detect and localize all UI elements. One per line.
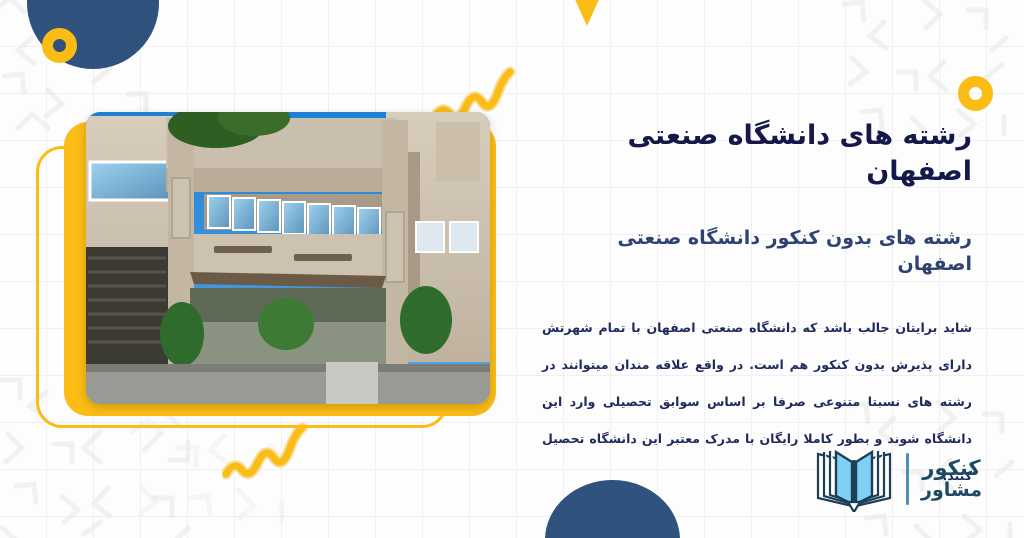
- text-content-block: رشته های دانشگاه صنعتی اصفهان رشته های ب…: [542, 118, 972, 494]
- yellow-ring-right-icon: [958, 76, 993, 111]
- logo-line-moshaver: مشاور: [921, 480, 982, 502]
- yellow-triangle-icon: [569, 0, 605, 26]
- university-building-photo: [86, 112, 490, 404]
- banner-canvas: رشته های دانشگاه صنعتی اصفهان رشته های ب…: [0, 0, 1024, 538]
- brand-logo[interactable]: کنکور مشاور: [814, 446, 982, 512]
- open-book-icon: [814, 446, 894, 512]
- logo-line-konkoor: کنکور: [922, 456, 980, 480]
- logo-wordmark: کنکور مشاور: [921, 456, 982, 502]
- logo-divider: [906, 453, 909, 505]
- page-title: رشته های دانشگاه صنعتی اصفهان: [542, 118, 972, 191]
- page-subtitle: رشته های بدون کنکور دانشگاه صنعتی اصفهان: [542, 225, 972, 278]
- yellow-ring-left-icon: [42, 28, 77, 63]
- photo-frame-group: [36, 98, 506, 446]
